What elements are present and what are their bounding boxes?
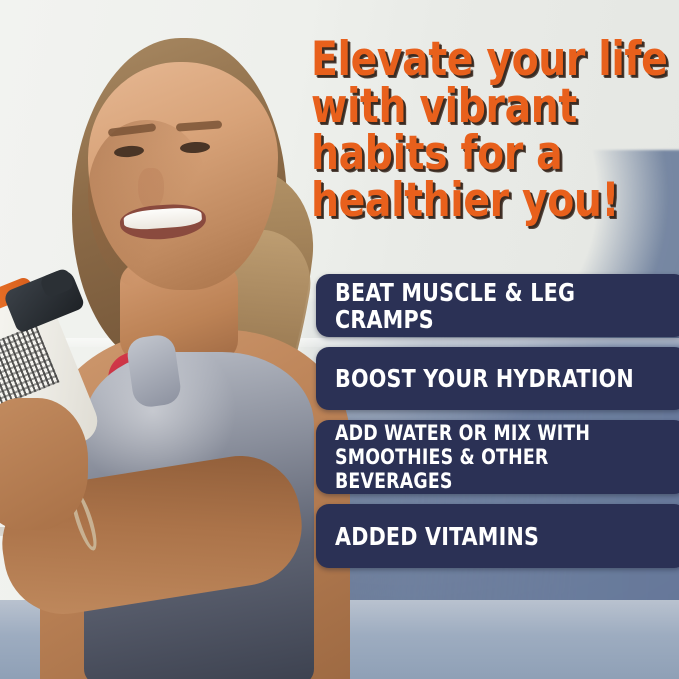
feature-label: BOOST YOUR HYDRATION [335, 365, 634, 392]
promo-poster: Elevate your life with vibrant habits fo… [0, 0, 679, 679]
feature-bar-mixing: ADD WATER OR MIX WITH SMOOTHIES & OTHER … [316, 420, 679, 494]
hand [0, 398, 88, 530]
feature-list: BEAT MUSCLE & LEG CRAMPS BOOST YOUR HYDR… [316, 274, 679, 578]
feature-label: BEAT MUSCLE & LEG CRAMPS [335, 279, 659, 333]
headline-line-2: with vibrant [311, 83, 646, 130]
headline-line-3: habits for a [311, 130, 646, 177]
page-title: Elevate your life with vibrant habits fo… [311, 36, 646, 224]
headline-line-1: Elevate your life [311, 36, 646, 83]
headline-line-4: healthier you! [311, 177, 646, 224]
feature-bar-cramps: BEAT MUSCLE & LEG CRAMPS [316, 274, 679, 337]
feature-bar-vitamins: ADDED VITAMINS [316, 504, 679, 568]
feature-label: ADD WATER OR MIX WITH SMOOTHIES & OTHER … [335, 421, 659, 493]
nose [138, 168, 164, 210]
teeth [123, 206, 202, 230]
feature-bar-hydration: BOOST YOUR HYDRATION [316, 347, 679, 410]
feature-label: ADDED VITAMINS [335, 523, 539, 550]
subject-photo [0, 0, 340, 679]
